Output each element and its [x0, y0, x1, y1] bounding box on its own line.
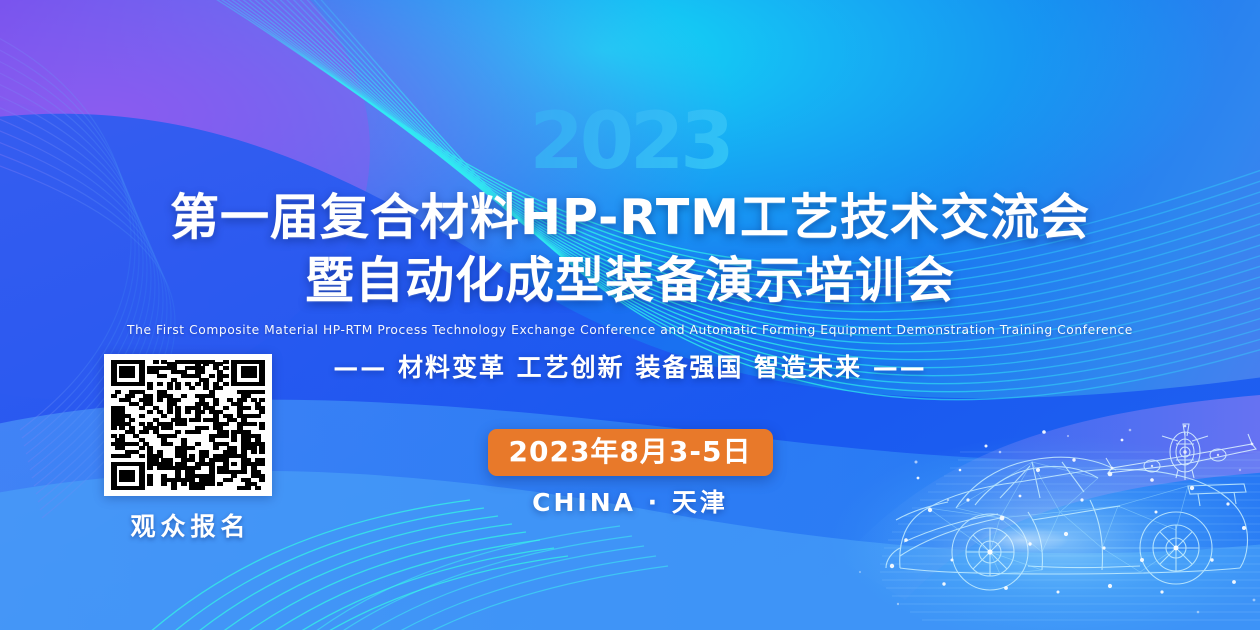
year-headline: 2023 [0, 103, 1260, 181]
qr-frame [104, 354, 272, 496]
qr-caption: 观众报名 [100, 507, 276, 543]
registration-qr-code[interactable] [111, 360, 265, 490]
event-date-badge: 2023年8月3-5日 [488, 429, 773, 476]
right-line-texture [880, 452, 1260, 620]
registration-qr-block[interactable]: 观众报名 [100, 354, 276, 543]
cyan-ribbon-lines-bottom-2 [280, 526, 668, 630]
english-subtitle: The First Composite Material HP-RTM Proc… [0, 322, 1260, 338]
title-line-2: 暨自动化成型装备演示培训会 [0, 253, 1260, 309]
title-line-1: 第一届复合材料HP-RTM工艺技术交流会 [0, 190, 1260, 246]
conference-banner: 观众报名 2023 第一届复合材料HP-RTM工艺技术交流会 暨自动化成型装备演… [0, 0, 1260, 630]
